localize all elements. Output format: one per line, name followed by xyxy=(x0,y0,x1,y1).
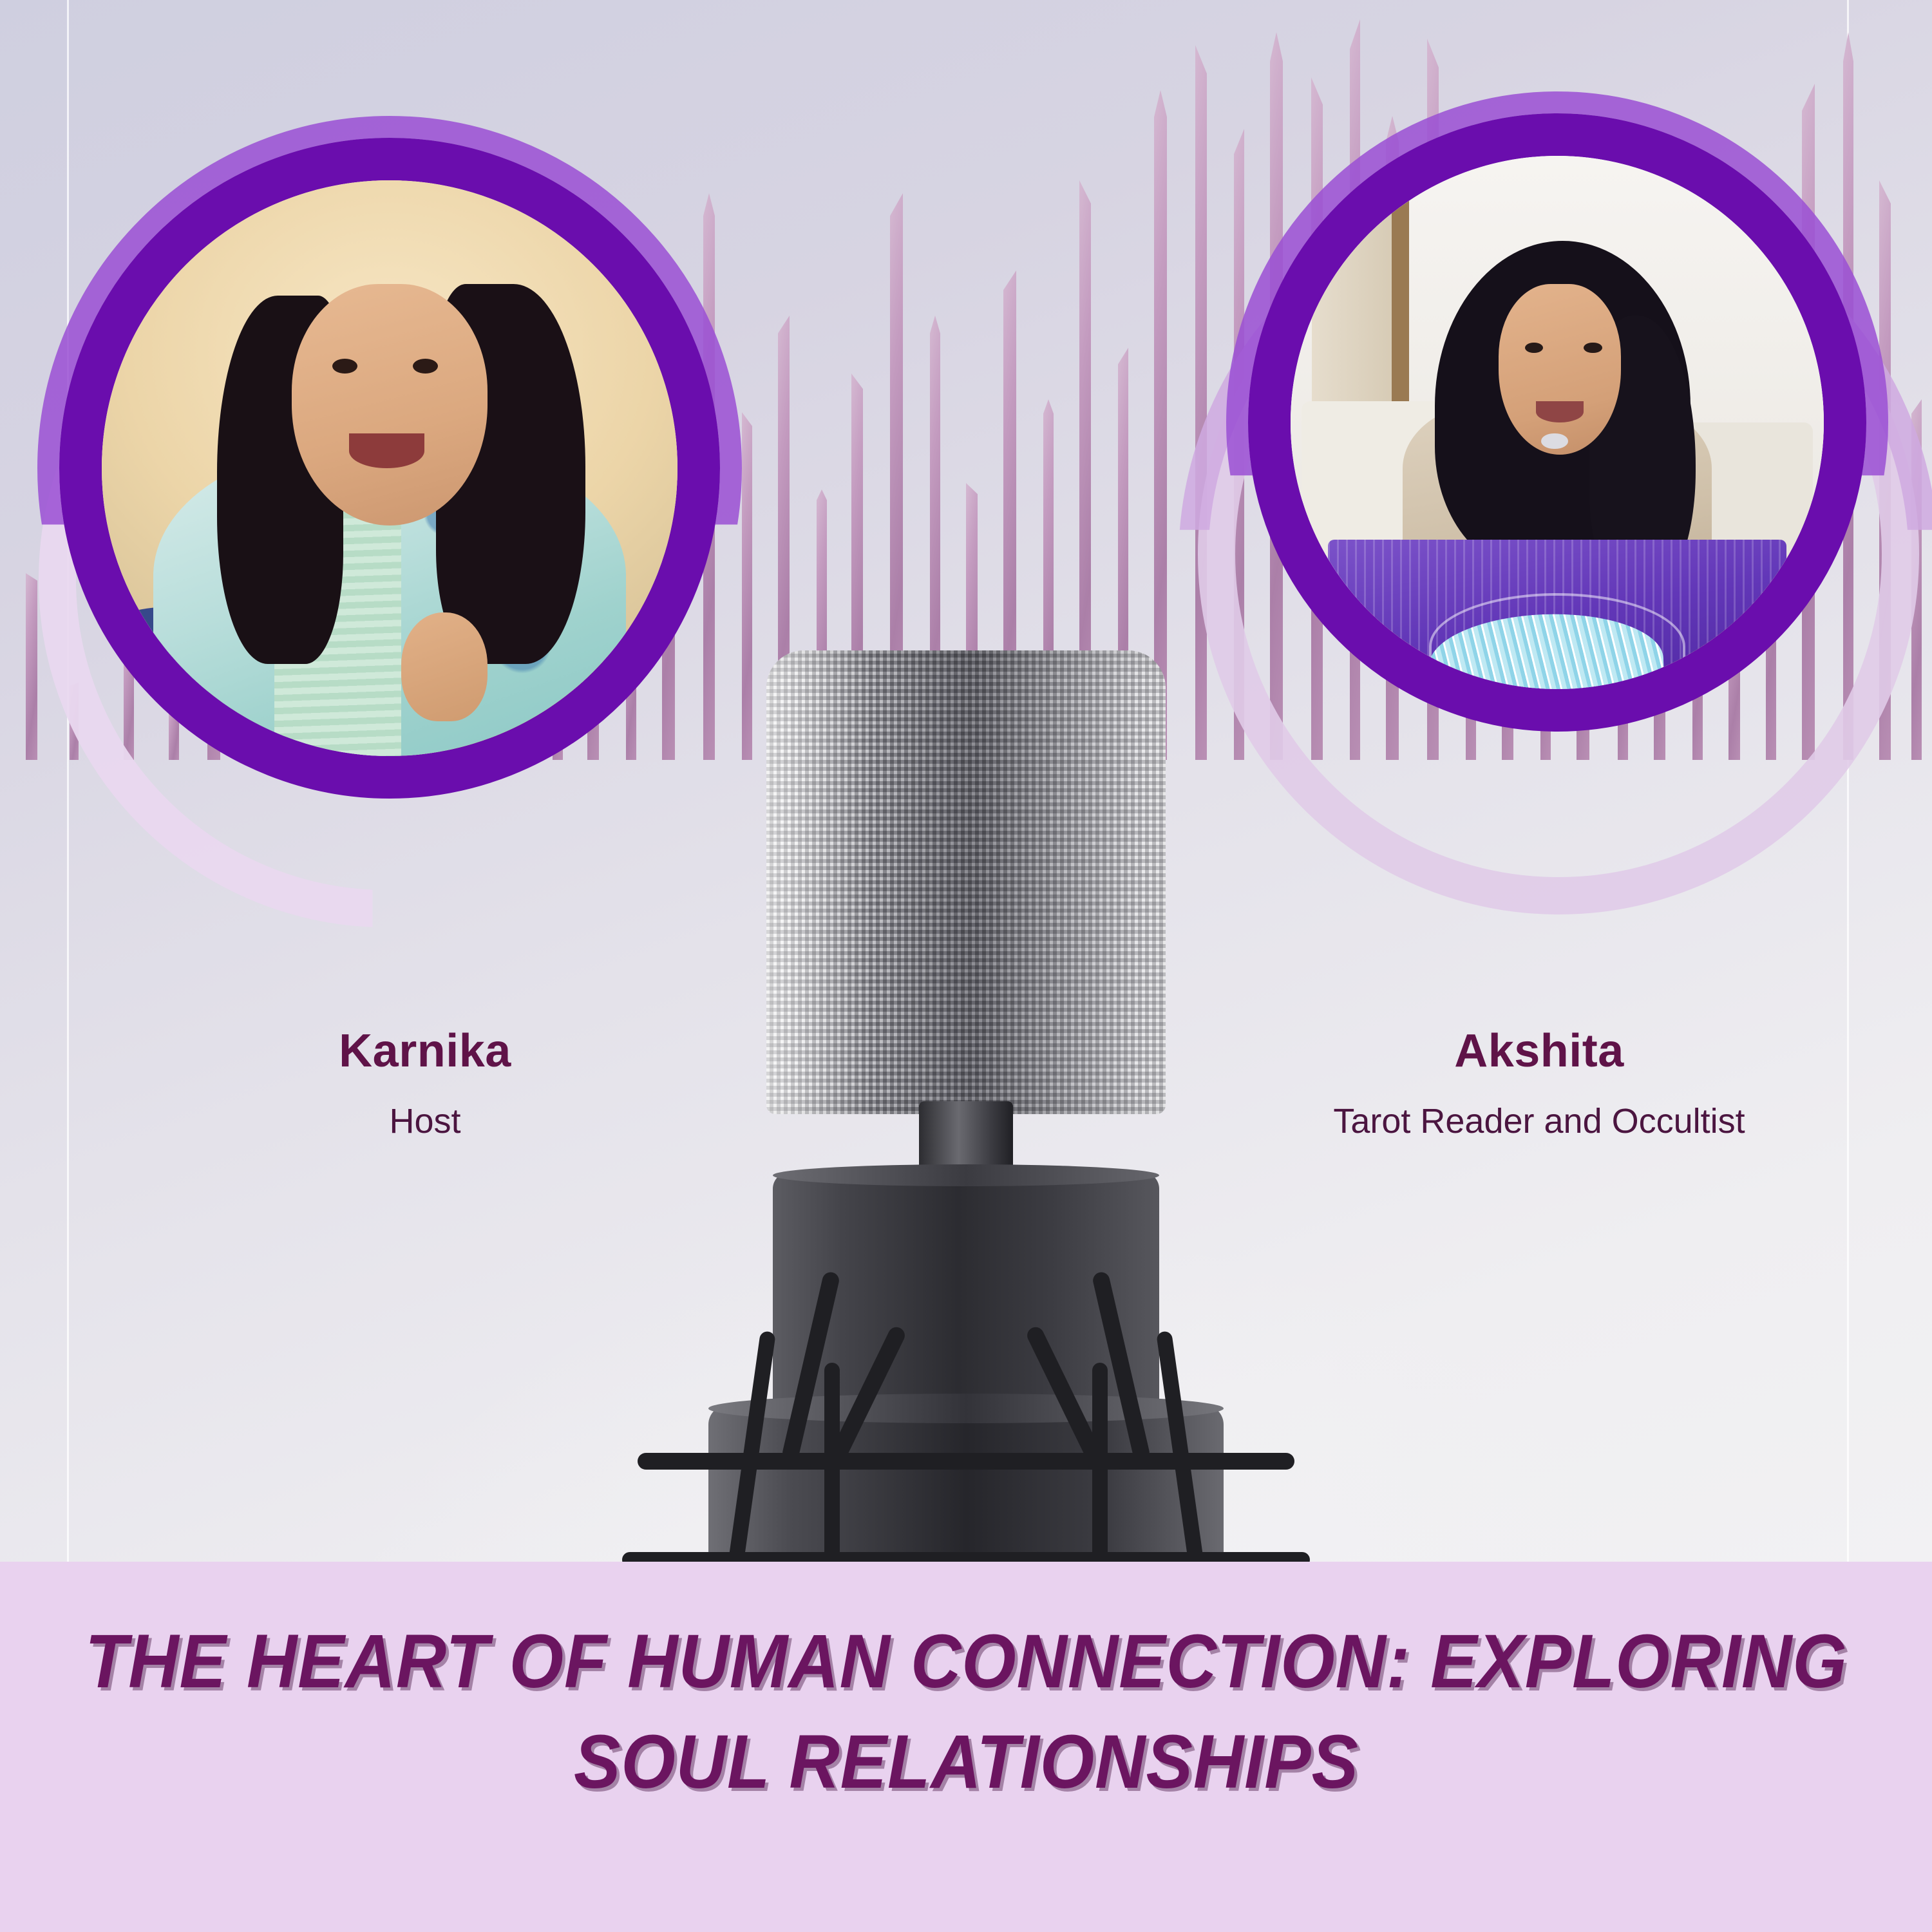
avatar-photo-karnika xyxy=(102,180,677,756)
guest-name-karnika: Karnika xyxy=(193,1028,657,1074)
guest-role-akshita: Tarot Reader and Occultist xyxy=(1211,1104,1868,1139)
guest-name-akshita: Akshita xyxy=(1211,1028,1868,1074)
avatar-akshita xyxy=(1248,113,1866,732)
guest-info-karnika: Karnika Host xyxy=(193,1028,657,1139)
guest-info-akshita: Akshita Tarot Reader and Occultist xyxy=(1211,1028,1868,1139)
avatar-karnika xyxy=(59,138,720,799)
podcast-promo-poster: Karnika Host Akshita Tarot Reader and Oc… xyxy=(0,0,1932,1932)
episode-title-line-1: THE HEART OF HUMAN CONNECTION: EXPLORING xyxy=(85,1612,1848,1712)
microphone-shock-mount xyxy=(618,1211,1314,1571)
avatar-photo-akshita xyxy=(1291,156,1824,689)
episode-title-banner: THE HEART OF HUMAN CONNECTION: EXPLORING… xyxy=(0,1562,1932,1932)
microphone-mesh-grille xyxy=(766,650,1166,1114)
guest-role-karnika: Host xyxy=(193,1104,657,1139)
episode-title-line-2: SOUL RELATIONSHIPS xyxy=(574,1712,1359,1813)
waveform-bar xyxy=(26,573,37,760)
